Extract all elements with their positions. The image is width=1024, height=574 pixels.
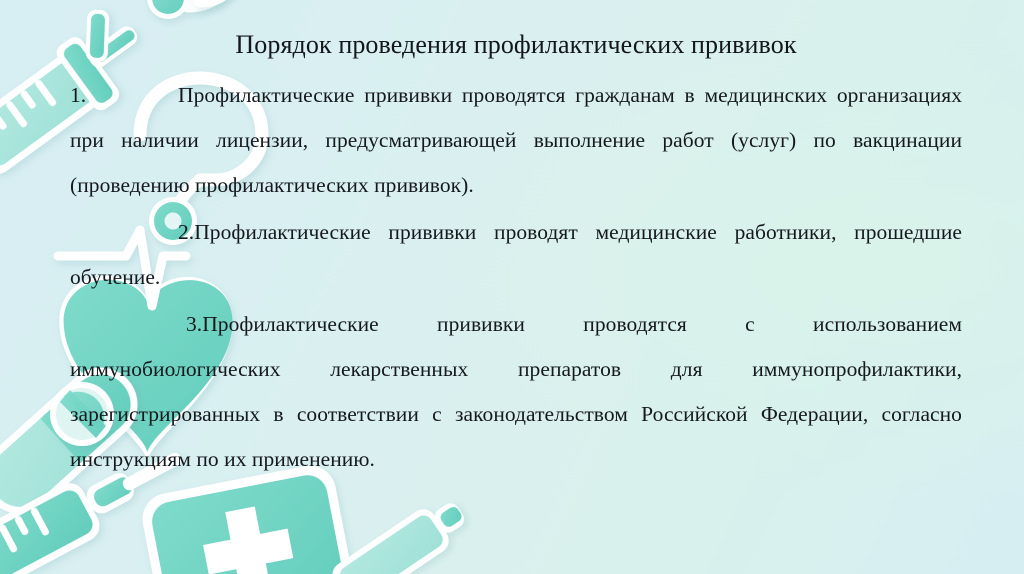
stethoscope-icon xyxy=(156,0,236,2)
body-text-block: 1.Профилактические прививки проводятся г… xyxy=(70,73,962,482)
paragraph-3: 3.Профилактические прививки проводятся с… xyxy=(70,302,962,482)
paragraph-1-text: Профилактические прививки проводятся гра… xyxy=(70,83,962,197)
paragraph-1: 1.Профилактические прививки проводятся г… xyxy=(70,73,962,208)
presentation-slide: Порядок проведения профилактических прив… xyxy=(0,0,1024,574)
paragraph-2: 2.Профилактические прививки проводят мед… xyxy=(70,210,962,300)
stethoscope-icon xyxy=(118,0,236,19)
paragraph-1-marker: 1. xyxy=(70,73,178,118)
syringe-icon xyxy=(327,491,473,574)
page-title: Порядок проведения профилактических прив… xyxy=(70,30,962,61)
slide-content: Порядок проведения профилактических прив… xyxy=(70,30,962,482)
